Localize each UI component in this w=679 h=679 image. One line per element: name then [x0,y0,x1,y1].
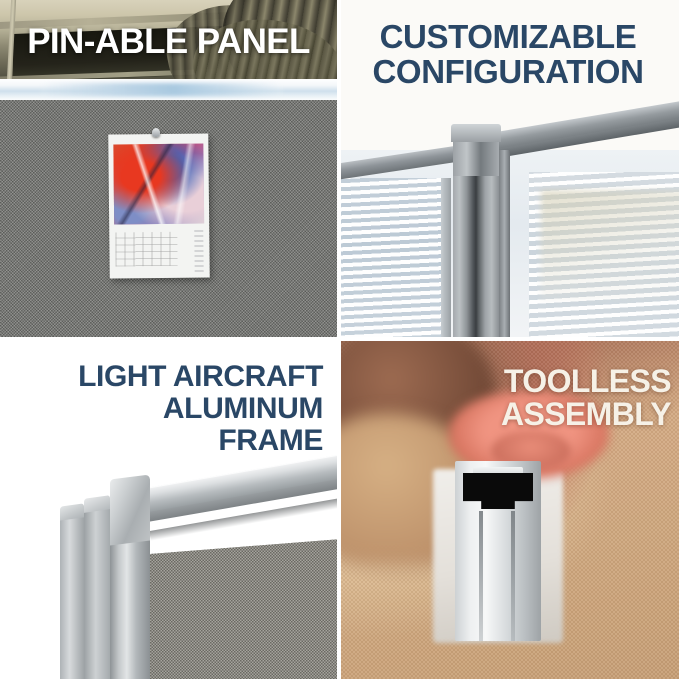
extrusion-groove-right [511,511,515,641]
aluminum-post-bracket [453,142,499,176]
panel-title-pin-able-panel: PIN-ABLE PANEL [0,24,337,60]
title-line-2: ASSEMBLY [351,398,671,431]
gray-fabric-texture [150,537,337,679]
panel-light-aircraft-aluminum-frame: LIGHT AIRCRAFT ALUMINUM FRAME [0,341,337,679]
aluminum-vertical-post-mid [84,505,110,679]
title-line-2: ALUMINUM [8,393,323,425]
title-line-1: CUSTOMIZABLE [347,20,669,55]
calendar-side-text [194,230,203,272]
calendar-artwork [113,144,204,225]
fluorescent-light-icon [0,79,337,101]
window-reflection [541,190,679,300]
title-line-1: TOOLLESS [351,365,671,398]
aluminum-post-cap [451,124,501,142]
panel-customizable-configuration: CUSTOMIZABLE CONFIGURATION [341,0,679,337]
title-line-3: FRAME [8,425,323,457]
panel-pin-able-panel: PIN-ABLE PANEL [0,0,337,337]
aluminum-vertical-post-rear [60,513,84,679]
panel-title-toolless-assembly: TOOLLESS ASSEMBLY [351,365,671,430]
aluminum-mullion [499,150,510,337]
pushpin-icon [152,128,160,137]
title-line-1: LIGHT AIRCRAFT [8,361,323,393]
calendar-date-grid [115,232,177,267]
panel-toolless-assembly: TOOLLESS ASSEMBLY [341,341,679,679]
panel-title-customizable-configuration: CUSTOMIZABLE CONFIGURATION [347,20,669,90]
pinned-calendar [108,133,210,278]
extrusion-groove-left [479,511,483,641]
panel-title-light-aircraft-aluminum-frame: LIGHT AIRCRAFT ALUMINUM FRAME [8,361,323,456]
glass-panel-edge [441,178,451,337]
product-feature-collage: PIN-ABLE PANEL CUSTOMIZABLE CONFIGURATIO… [0,0,679,679]
title-line-2: CONFIGURATION [347,55,669,90]
aluminum-vertical-post-front [110,527,150,679]
venetian-blinds-left [341,178,445,337]
corner-joint [110,475,150,546]
horizontal-divider [0,337,679,341]
